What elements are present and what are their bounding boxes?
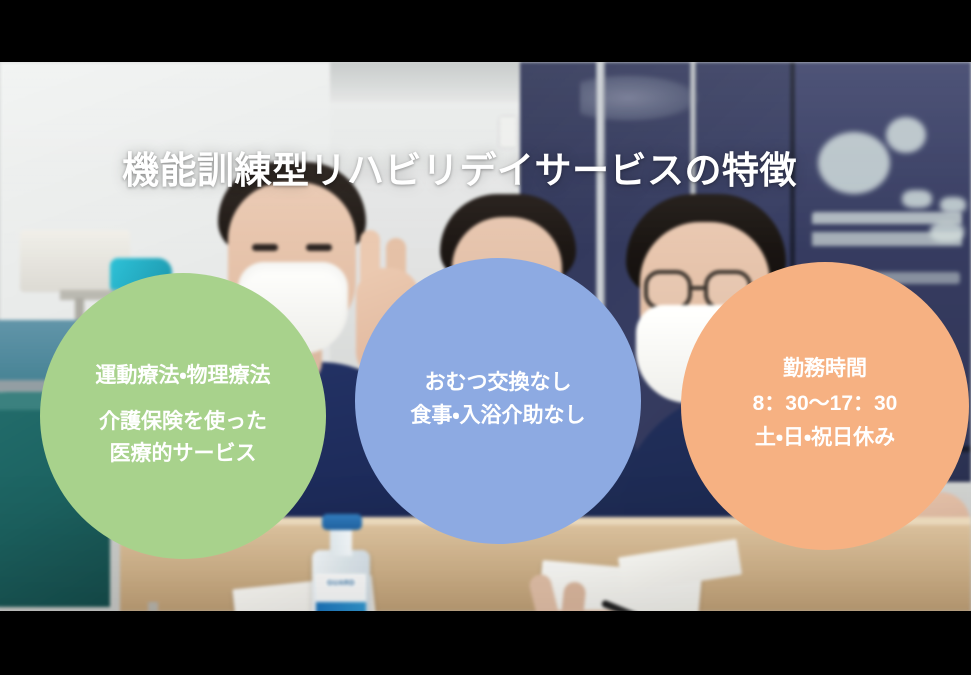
slide-frame: GUARD 機能訓練型リハビリデイサービスの特徴 運動療法・物理療法 介護保険を… xyxy=(0,0,971,675)
photo-sanitizer-neck xyxy=(330,526,352,556)
photo-poster-cloud xyxy=(940,197,966,213)
photo-sanitizer-brand-text: GUARD xyxy=(316,580,366,587)
photo-sanitizer-pump xyxy=(322,514,362,530)
photo-storage-box xyxy=(20,230,130,292)
bubble-text-group: おむつ交換なし 食事・入浴介助なし xyxy=(410,368,585,434)
bubble-line: 医療的サービス xyxy=(99,439,267,469)
photo-poster-cloud xyxy=(930,222,964,242)
bubble-line: 8：30〜17：30 xyxy=(753,389,898,419)
feature-bubble-care-exclusions: おむつ交換なし 食事・入浴介助なし xyxy=(355,258,641,544)
photo-person-left-finger xyxy=(360,230,380,300)
photo-person-right-glasses-bridge xyxy=(692,286,706,290)
photo-peace-hand xyxy=(520,610,630,611)
photo-poster-text xyxy=(812,212,962,262)
feature-bubble-working-hours: 勤務時間 8：30〜17：30 土・日・祝日休み xyxy=(681,262,969,550)
photo-poster-cloud xyxy=(902,190,932,208)
bubble-line: 介護保険を使った xyxy=(99,407,267,437)
photo-paper xyxy=(538,560,702,611)
photo-ceiling xyxy=(0,62,971,102)
bubble-text-group: 介護保険を使った 医療的サービス xyxy=(99,407,267,471)
photo-sanitizer-stripe xyxy=(316,602,366,611)
photo-pen xyxy=(601,599,657,611)
photo-table-leg xyxy=(148,602,158,611)
photo-peace-finger xyxy=(527,572,562,611)
photo-paper xyxy=(618,539,742,593)
feature-bubble-service-type: 運動療法・物理療法 介護保険を使った 医療的サービス xyxy=(40,273,326,559)
photo-peace-finger xyxy=(559,581,586,611)
bubble-line: 勤務時間 xyxy=(753,354,898,384)
photo-poster-cloud xyxy=(886,117,926,153)
bubble-line: 食事・入浴介助なし xyxy=(410,401,585,431)
bubble-text-group: 運動療法・物理療法 xyxy=(95,361,270,391)
bubble-line: 運動療法・物理療法 xyxy=(95,361,270,391)
photo-person-left-eye xyxy=(252,244,278,251)
photo-ceiling-equipment xyxy=(580,74,700,122)
bubble-text-group: 勤務時間 8：30〜17：30 土・日・祝日休み xyxy=(753,354,898,458)
photo-wall-switch xyxy=(500,117,516,147)
photo-person-right-glasses xyxy=(644,270,692,310)
page-title: 機能訓練型リハビリデイサービスの特徴 xyxy=(122,152,797,189)
bubble-line: 土・日・祝日休み xyxy=(753,423,898,453)
photo-person-left-eye xyxy=(306,244,332,251)
photo-poster-cloud xyxy=(818,132,890,194)
bubble-line: おむつ交換なし xyxy=(410,368,585,398)
